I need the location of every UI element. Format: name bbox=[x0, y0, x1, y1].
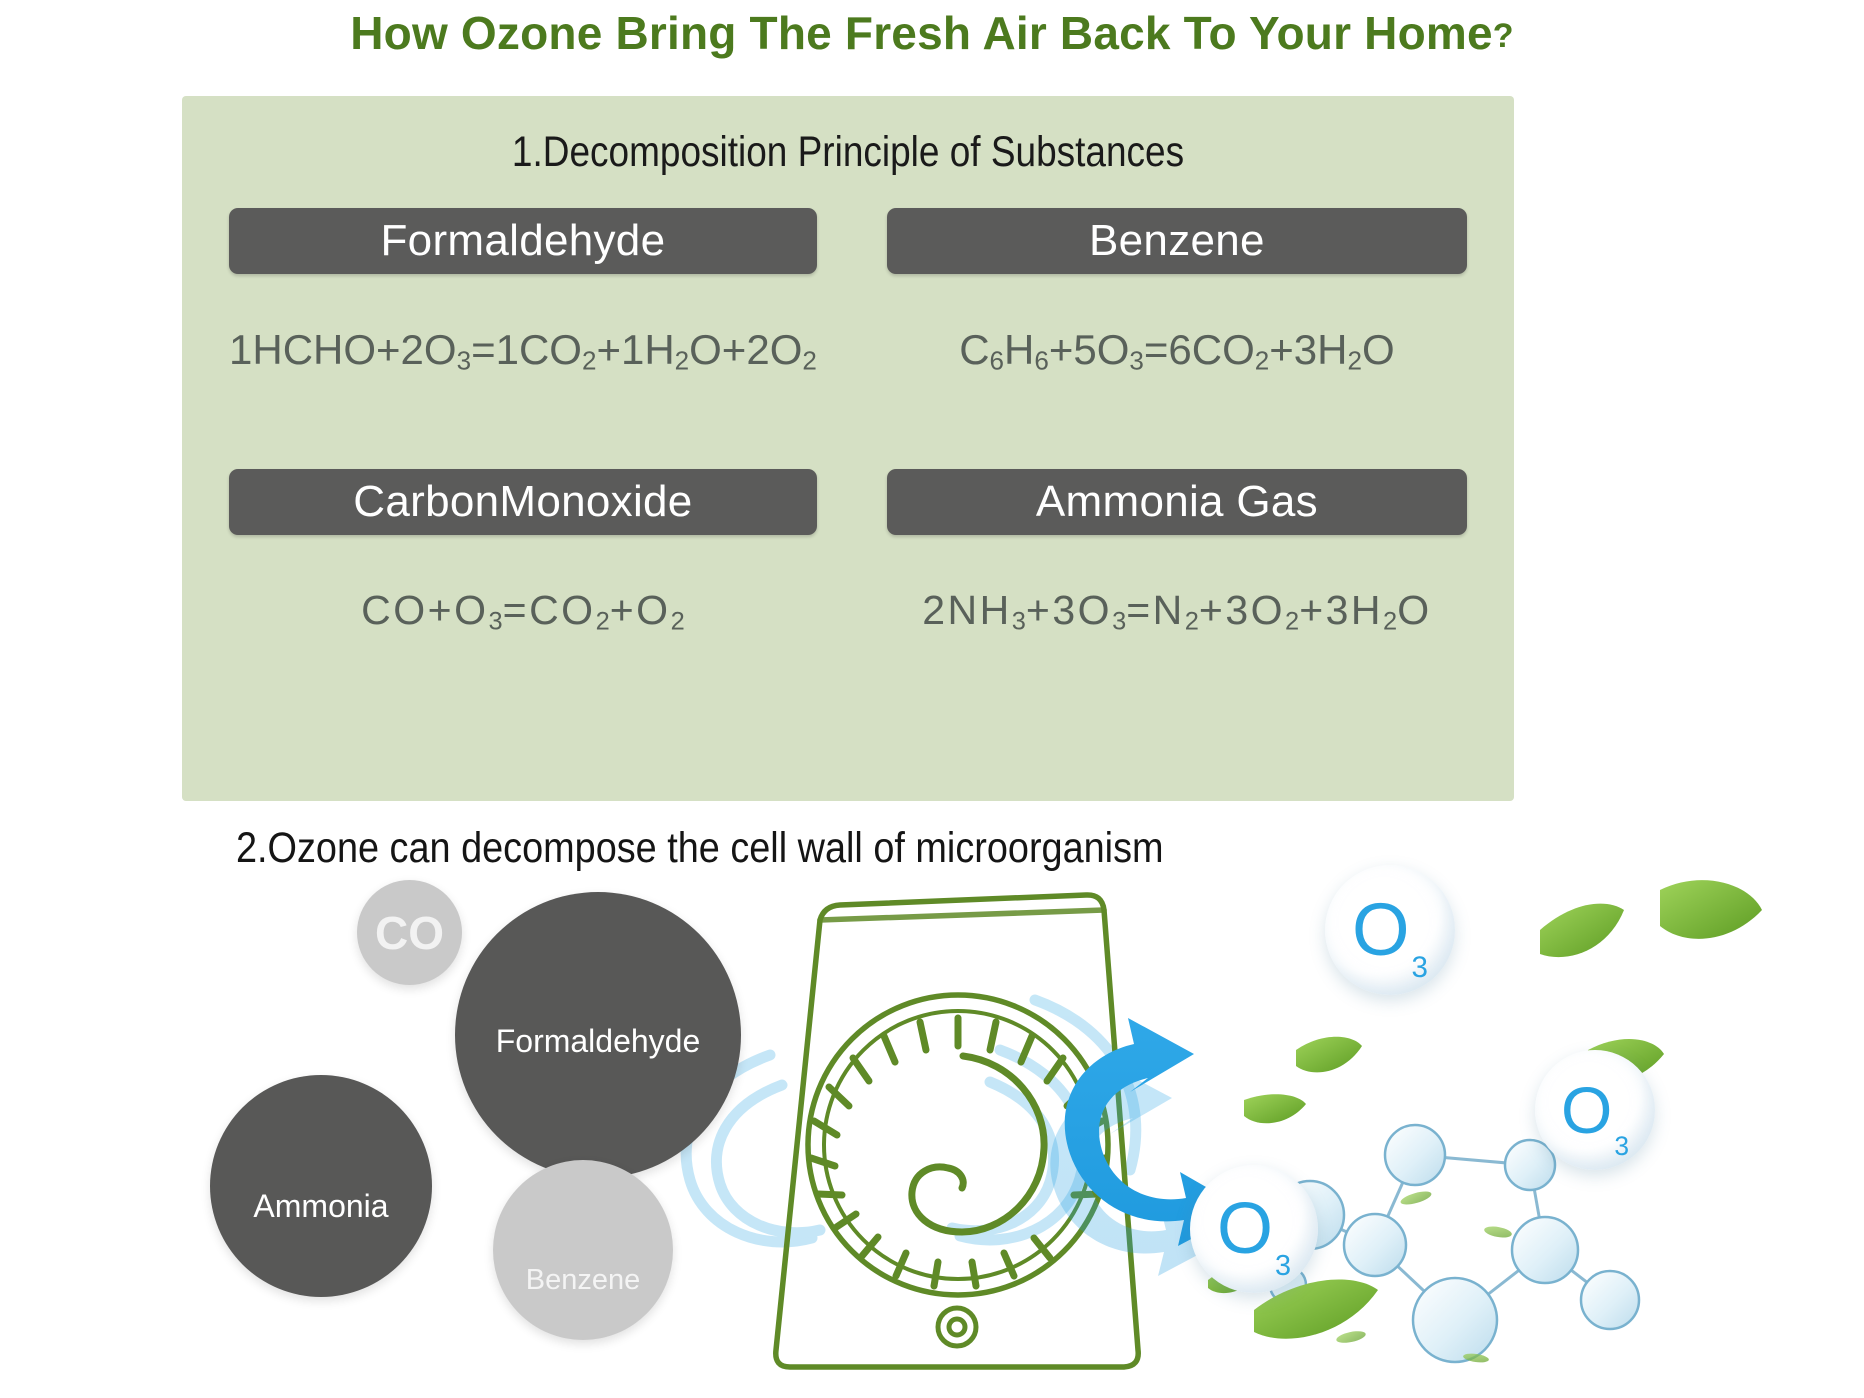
ozone-bubble-2: O3 bbox=[1190, 1165, 1318, 1293]
eq-sub: 3 bbox=[1129, 346, 1143, 376]
eq-sub: 3 bbox=[488, 607, 502, 635]
eq-part: +3O bbox=[1199, 587, 1285, 633]
pollutant-label-benzene: Benzene bbox=[526, 1264, 641, 1297]
eq-part: 1HCHO+2O bbox=[229, 326, 457, 373]
eq-sub: 2 bbox=[1255, 346, 1269, 376]
pollutant-label-formaldehyde: Formaldehyde bbox=[496, 1023, 701, 1060]
equation-benzene: C6H6+5O3=6CO2+3H2O bbox=[887, 326, 1467, 377]
eq-part: +O bbox=[610, 587, 671, 633]
section2-heading: 2.Ozone can decompose the cell wall of m… bbox=[236, 824, 1164, 873]
eq-sub: 2 bbox=[582, 346, 596, 376]
ozone-bubble-3: O3 bbox=[1535, 1050, 1655, 1170]
airflow-swirls bbox=[686, 1000, 1136, 1242]
eq-part: O bbox=[1362, 326, 1395, 373]
eq-part: +5O bbox=[1049, 326, 1130, 373]
eq-sub: 6 bbox=[990, 346, 1004, 376]
eq-part: 2NH bbox=[922, 587, 1012, 633]
leaf-icons bbox=[1208, 880, 1762, 1364]
equation-carbon-monoxide: CO+O3=CO2+O2 bbox=[229, 587, 817, 637]
ozone-symbol: O bbox=[1561, 1077, 1612, 1143]
eq-part: +1H bbox=[596, 326, 674, 373]
eq-sub: 2 bbox=[1285, 607, 1299, 635]
ozone-subscript: 3 bbox=[1275, 1252, 1291, 1281]
pollutant-label-co: CO bbox=[375, 906, 444, 960]
ozone-subscript: 3 bbox=[1412, 953, 1428, 983]
pollutant-bubble-formaldehyde: Formaldehyde bbox=[455, 892, 741, 1178]
eq-part: O+2O bbox=[689, 326, 802, 373]
eq-part: =1CO bbox=[471, 326, 582, 373]
eq-sub: 6 bbox=[1034, 346, 1048, 376]
substance-card-grid: Formaldehyde 1HCHO+2O3=1CO2+1H2O+2O2 Ben… bbox=[182, 208, 1514, 636]
eq-sub: 2 bbox=[675, 346, 689, 376]
substance-bar-ammonia-gas: Ammonia Gas bbox=[887, 469, 1467, 535]
eq-sub: 2 bbox=[1383, 607, 1397, 635]
page-title-question-mark: ? bbox=[1493, 17, 1514, 55]
eq-sub: 2 bbox=[802, 346, 816, 376]
eq-sub: 3 bbox=[1012, 607, 1026, 635]
page-title-text: How Ozone Bring The Fresh Air Back To Yo… bbox=[350, 7, 1493, 59]
pollutant-label-ammonia: Ammonia bbox=[253, 1188, 388, 1225]
page-title: How Ozone Bring The Fresh Air Back To Yo… bbox=[0, 6, 1864, 60]
eq-sub: 2 bbox=[671, 607, 685, 635]
substance-label-formaldehyde: Formaldehyde bbox=[381, 216, 666, 266]
substance-bar-carbon-monoxide: CarbonMonoxide bbox=[229, 469, 817, 535]
substance-label-carbon-monoxide: CarbonMonoxide bbox=[353, 477, 692, 527]
decomposition-panel: 1.Decomposition Principle of Substances … bbox=[182, 96, 1514, 801]
eq-sub: 2 bbox=[596, 607, 610, 635]
pollutant-bubble-co: CO bbox=[357, 880, 462, 985]
eq-part: +3O bbox=[1026, 587, 1112, 633]
eq-part: =CO bbox=[503, 587, 596, 633]
molecule-cluster bbox=[1288, 1155, 1610, 1320]
eq-part: =6CO bbox=[1144, 326, 1255, 373]
ozone-symbol: O bbox=[1352, 893, 1410, 967]
substance-bar-benzene: Benzene bbox=[887, 208, 1467, 274]
eq-sub: 3 bbox=[457, 346, 471, 376]
equation-ammonia-gas: 2NH3+3O3=N2+3O2+3H2O bbox=[887, 587, 1467, 637]
eq-part: +3H bbox=[1299, 587, 1383, 633]
eq-part: H bbox=[1004, 326, 1034, 373]
ozone-symbol: O bbox=[1217, 1193, 1273, 1265]
equation-formaldehyde: 1HCHO+2O3=1CO2+1H2O+2O2 bbox=[229, 326, 817, 377]
eq-part: +3H bbox=[1269, 326, 1347, 373]
eq-sub: 2 bbox=[1348, 346, 1362, 376]
eq-part: =N bbox=[1126, 587, 1185, 633]
substance-card-ammonia-gas: Ammonia Gas 2NH3+3O3=N2+3O2+3H2O bbox=[887, 469, 1467, 637]
substance-card-benzene: Benzene C6H6+5O3=6CO2+3H2O bbox=[887, 208, 1467, 377]
substance-card-formaldehyde: Formaldehyde 1HCHO+2O3=1CO2+1H2O+2O2 bbox=[229, 208, 817, 377]
eq-sub: 3 bbox=[1112, 607, 1126, 635]
eq-part: C bbox=[959, 326, 989, 373]
substance-label-ammonia-gas: Ammonia Gas bbox=[1036, 477, 1318, 527]
eq-part: CO+O bbox=[361, 587, 488, 633]
substance-bar-formaldehyde: Formaldehyde bbox=[229, 208, 817, 274]
air-purifier-icon bbox=[776, 895, 1138, 1367]
ozone-bubble-1: O3 bbox=[1325, 865, 1455, 995]
section1-heading: 1.Decomposition Principle of Substances bbox=[275, 128, 1421, 177]
substance-label-benzene: Benzene bbox=[1089, 216, 1265, 266]
eq-part: O bbox=[1397, 587, 1431, 633]
ozone-subscript: 3 bbox=[1614, 1133, 1629, 1159]
eq-sub: 2 bbox=[1185, 607, 1199, 635]
ozone-illustration: CO Formaldehyde Ammonia Benzene O3 O3 O3 bbox=[0, 880, 1864, 1398]
pollutant-bubble-ammonia: Ammonia bbox=[210, 1075, 432, 1297]
pollutant-bubble-benzene: Benzene bbox=[493, 1160, 673, 1340]
substance-card-carbon-monoxide: CarbonMonoxide CO+O3=CO2+O2 bbox=[229, 469, 817, 637]
